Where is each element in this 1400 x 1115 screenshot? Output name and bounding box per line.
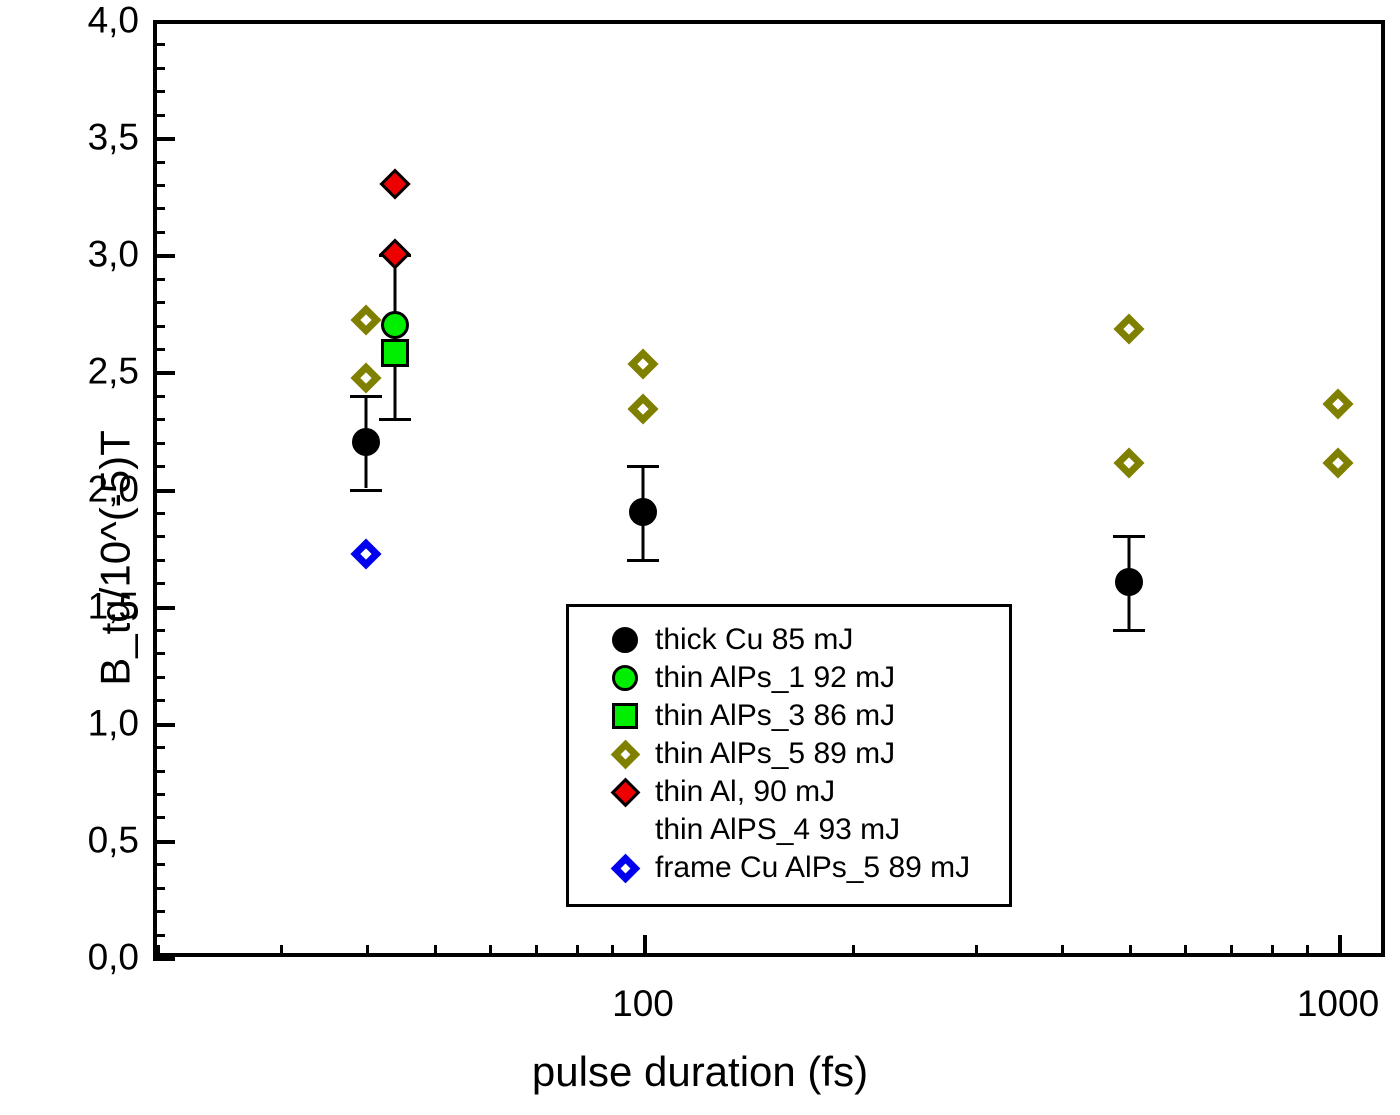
legend-item[interactable]: thin AlPs_5 89 mJ (569, 735, 1009, 773)
y-tick-label: 2,5 (88, 353, 139, 390)
y-tick-minor (153, 418, 165, 421)
x-tick-minor (975, 945, 978, 957)
legend-marker-circle (595, 665, 655, 691)
y-tick-label: 1,0 (88, 704, 139, 741)
x-tick-major (643, 935, 647, 957)
data-point (381, 311, 409, 339)
marker-circle (1115, 568, 1143, 596)
legend-item[interactable]: thick Cu 85 mJ (569, 621, 1009, 659)
legend-label: thin AlPS_4 93 mJ (655, 815, 900, 845)
y-tick-minor (153, 676, 165, 679)
y-tick-minor (153, 910, 165, 913)
y-tick-minor (153, 934, 165, 937)
marker-diamond-open (610, 853, 640, 883)
marker-circle (612, 665, 638, 691)
y-tick-label: 1,5 (88, 587, 139, 624)
chart-figure: B_tg/10^(-5)T 4,03,53,02,52,01,51,00,50,… (0, 0, 1400, 1115)
x-tick-label: 1000 (1297, 985, 1379, 1022)
y-tick-label: 3,0 (88, 236, 139, 273)
data-point (1115, 568, 1143, 596)
x-tick-minor (1271, 945, 1274, 957)
marker-square (381, 339, 409, 367)
y-tick-minor (153, 395, 165, 398)
legend-label: thick Cu 85 mJ (655, 625, 853, 655)
error-bar-cap (350, 489, 382, 492)
data-point (629, 498, 657, 526)
legend-box[interactable]: thick Cu 85 mJthin AlPs_1 92 mJthin AlPs… (566, 604, 1012, 907)
legend-marker-diamond (595, 782, 655, 803)
data-point (352, 428, 380, 456)
y-tick-minor (153, 442, 165, 445)
x-tick-minor (280, 945, 283, 957)
y-tick-major (153, 957, 175, 961)
y-tick-minor (153, 348, 165, 351)
y-tick-minor (153, 652, 165, 655)
y-tick-minor (153, 816, 165, 819)
y-tick-major (153, 371, 175, 375)
marker-circle (352, 428, 380, 456)
y-tick-minor (153, 184, 165, 187)
y-tick-minor (153, 278, 165, 281)
legend-label: thin AlPs_5 89 mJ (655, 739, 895, 769)
error-bar-cap (1113, 535, 1145, 538)
x-tick-minor (852, 945, 855, 957)
y-tick-label: 0,0 (88, 939, 139, 976)
legend-item[interactable]: thin Al, 90 mJ (569, 773, 1009, 811)
legend-item[interactable]: thin AlPs_3 86 mJ (569, 697, 1009, 735)
y-tick-major (153, 254, 175, 258)
y-tick-minor (153, 793, 165, 796)
marker-square (612, 703, 638, 729)
x-tick-minor (1061, 945, 1064, 957)
error-bar-cap (1113, 629, 1145, 632)
error-bar-cap (627, 559, 659, 562)
y-tick-major (153, 137, 175, 141)
y-tick-major (153, 20, 175, 24)
y-tick-label: 4,0 (88, 2, 139, 39)
y-tick-minor (153, 465, 165, 468)
y-tick-minor (153, 699, 165, 702)
legend-item[interactable]: thin AlPS_4 93 mJ (569, 811, 1009, 849)
y-tick-minor (153, 231, 165, 234)
legend-item[interactable]: frame Cu AlPs_5 89 mJ (569, 849, 1009, 887)
marker-diamond-open (610, 739, 640, 769)
y-tick-minor (153, 67, 165, 70)
y-tick-minor (153, 114, 165, 117)
x-tick-minor (1184, 945, 1187, 957)
y-tick-minor (153, 770, 165, 773)
x-tick-minor (1306, 945, 1309, 957)
y-tick-minor (153, 90, 165, 93)
marker-circle (629, 498, 657, 526)
legend-marker-diamond-open (595, 858, 655, 879)
marker-circle (612, 627, 638, 653)
y-tick-minor (153, 325, 165, 328)
x-tick-minor (366, 945, 369, 957)
legend-label: thin Al, 90 mJ (655, 777, 835, 807)
y-tick-major (153, 489, 175, 493)
y-tick-label: 0,5 (88, 821, 139, 858)
y-tick-minor (153, 535, 165, 538)
y-tick-minor (153, 887, 165, 890)
x-tick-minor (157, 945, 160, 957)
x-tick-minor (1230, 945, 1233, 957)
marker-diamond (610, 777, 640, 807)
y-tick-major (153, 840, 175, 844)
marker-circle (381, 311, 409, 339)
legend-marker-diamond-open (595, 744, 655, 765)
y-tick-minor (153, 746, 165, 749)
x-tick-minor (434, 945, 437, 957)
y-tick-label: 2,0 (88, 470, 139, 507)
y-tick-minor (153, 559, 165, 562)
x-axis-label: pulse duration (fs) (0, 1048, 1400, 1096)
error-bar-cap (627, 465, 659, 468)
y-tick-major (153, 606, 175, 610)
legend-label: frame Cu AlPs_5 89 mJ (655, 853, 970, 883)
x-tick-minor (535, 945, 538, 957)
x-tick-minor (1129, 945, 1132, 957)
legend-marker-square (595, 703, 655, 729)
y-tick-minor (153, 43, 165, 46)
legend-label: thin AlPs_3 86 mJ (655, 701, 895, 731)
y-tick-minor (153, 301, 165, 304)
data-point (381, 339, 409, 367)
error-bar-cap (379, 418, 411, 421)
legend-marker-circle (595, 627, 655, 653)
y-tick-label: 3,5 (88, 119, 139, 156)
x-tick-minor (611, 945, 614, 957)
y-tick-minor (153, 723, 165, 726)
y-tick-minor (153, 582, 165, 585)
error-bar-cap (350, 395, 382, 398)
y-tick-minor (153, 161, 165, 164)
x-tick-label: 100 (612, 985, 674, 1022)
x-tick-major (1338, 935, 1342, 957)
y-tick-minor (153, 863, 165, 866)
y-tick-minor (153, 207, 165, 210)
legend-label: thin AlPs_1 92 mJ (655, 663, 895, 693)
x-tick-minor (489, 945, 492, 957)
y-tick-minor (153, 629, 165, 632)
legend-item[interactable]: thin AlPs_1 92 mJ (569, 659, 1009, 697)
y-tick-minor (153, 512, 165, 515)
x-tick-minor (576, 945, 579, 957)
